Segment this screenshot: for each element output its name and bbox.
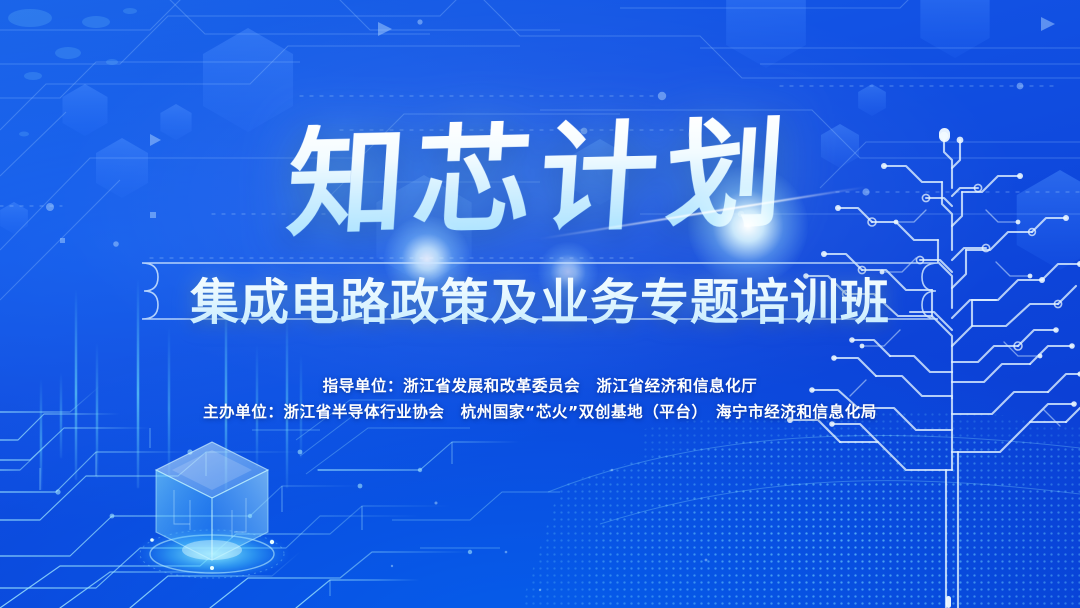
glowing-chip-cube <box>112 418 312 596</box>
organizer-line-guidance: 指导单位：浙江省发展和改革委员会 浙江省经济和信息化厅 <box>323 374 758 396</box>
page-title: 知芯计划 <box>284 115 797 244</box>
subtitle-text: 集成电路政策及业务专题培训班 <box>108 261 972 335</box>
main-title-block: 知芯计划 <box>0 104 1080 254</box>
organizer-line-host: 主办单位：浙江省半导体行业协会 杭州国家“芯火”双创基地（平台） 海宁市经济和信… <box>203 400 877 422</box>
subtitle-banner: 集成电路政策及业务专题培训班 <box>108 261 972 335</box>
organizers-block: 指导单位：浙江省发展和改革委员会 浙江省经济和信息化厅 主办单位：浙江省半导体行… <box>0 374 1080 422</box>
poster-canvas: 知芯计划 集成电路政策及业务专题培训班 指导单位：浙江省发展和改革委员会 浙江省… <box>0 0 1080 608</box>
